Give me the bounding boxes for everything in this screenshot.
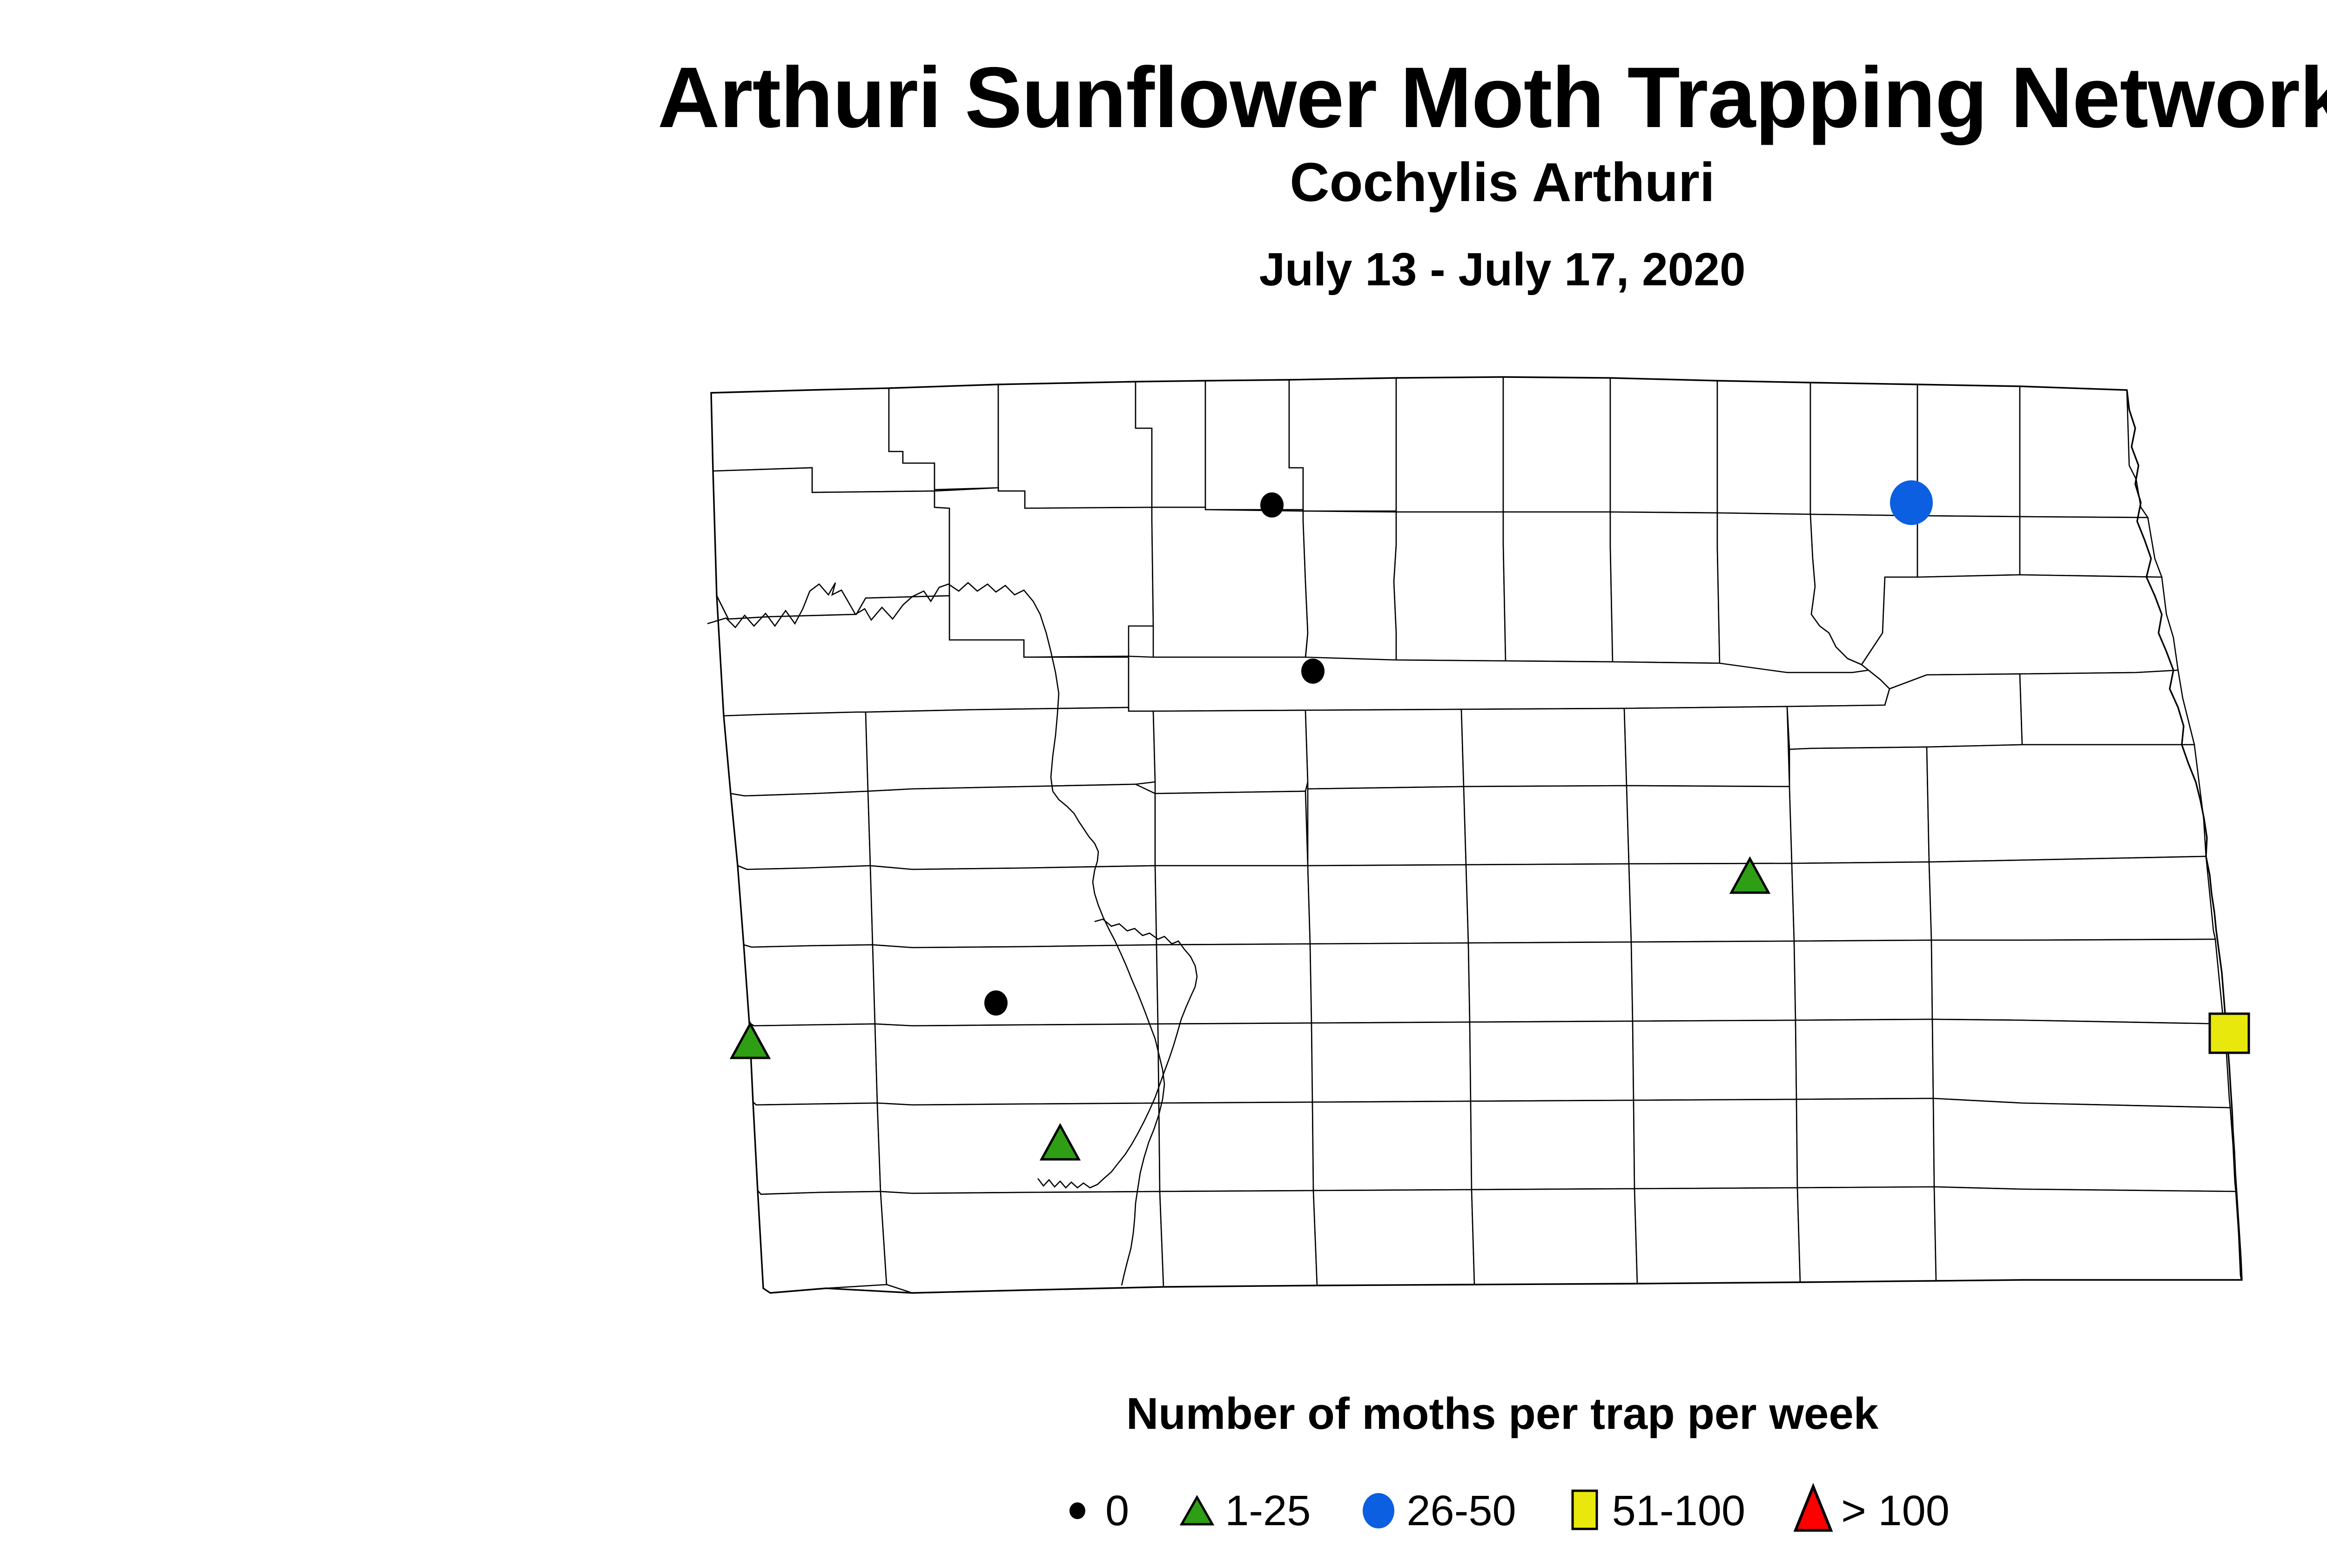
square-icon (1562, 1487, 1607, 1534)
legend-item-26-50[interactable]: 26-50 (1356, 1487, 1516, 1534)
marker-circle-26-50[interactable] (1890, 480, 1933, 525)
north-dakota-map (670, 372, 2327, 1378)
small-dot-icon (1055, 1487, 1100, 1534)
circle-icon (1356, 1487, 1401, 1534)
page-subtitle: Cochylis Arthuri (0, 141, 2327, 210)
legend-title: Number of moths per trap per week (0, 1392, 2327, 1436)
page-header: Arthuri Sunflower Moth Trapping Network … (0, 0, 2327, 293)
marker-zero-dot[interactable] (1301, 659, 1325, 684)
county-boundaries (711, 377, 2241, 1293)
date-range-label: July 13 - July 17, 2020 (0, 210, 2327, 293)
legend-label-51-100: 51-100 (1612, 1489, 1745, 1532)
legend-item-over-100[interactable]: > 100 (1791, 1487, 1950, 1534)
legend-label-over-100: > 100 (1841, 1489, 1950, 1532)
marker-zero-dot[interactable] (1260, 492, 1284, 518)
triangle-icon (1791, 1487, 1836, 1534)
legend-label-0: 0 (1105, 1489, 1129, 1532)
legend-label-1-25: 1-25 (1225, 1489, 1311, 1532)
legend-label-26-50: 26-50 (1406, 1489, 1516, 1532)
map-legend: Number of moths per trap per week 0 1-25 (0, 1392, 2327, 1534)
triangle-icon (1175, 1487, 1219, 1534)
legend-items: 0 1-25 26-50 51-100 (0, 1436, 2327, 1534)
map-canvas (670, 372, 2327, 1378)
legend-item-0[interactable]: 0 (1055, 1487, 1129, 1534)
legend-item-51-100[interactable]: 51-100 (1562, 1487, 1745, 1534)
legend-item-1-25[interactable]: 1-25 (1175, 1487, 1311, 1534)
page-title: Arthuri Sunflower Moth Trapping Network (0, 0, 2327, 141)
marker-zero-dot[interactable] (984, 990, 1008, 1016)
marker-square-51-100[interactable] (2210, 1014, 2249, 1053)
